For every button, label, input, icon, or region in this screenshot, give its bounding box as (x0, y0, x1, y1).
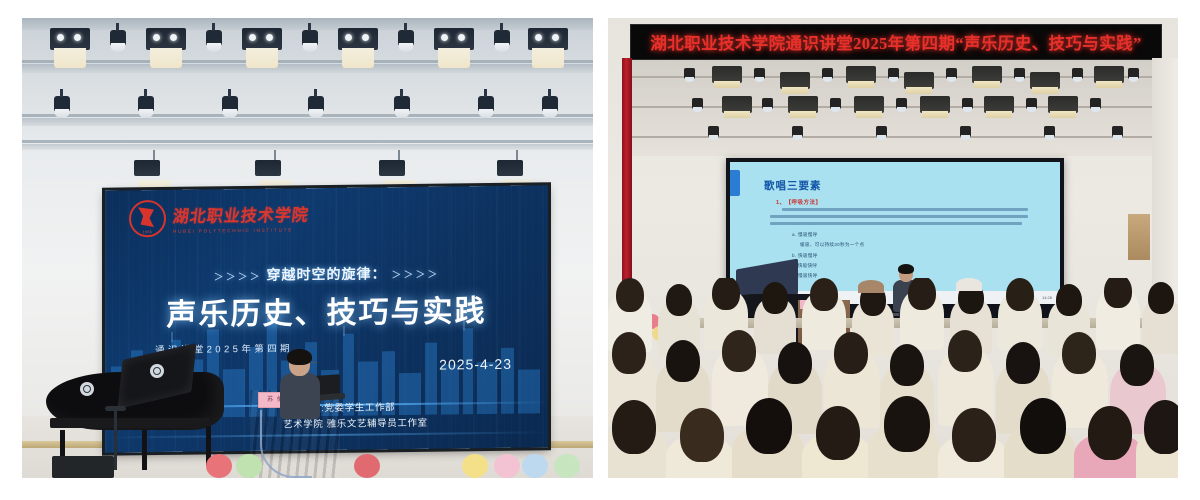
ceiling-band (22, 144, 593, 150)
moving-head-light-icon (379, 160, 405, 176)
student-head (666, 340, 700, 382)
piano-leg (142, 430, 147, 470)
rig-par-light-icon (876, 126, 887, 137)
stage-par-light-icon (494, 30, 510, 46)
rig-box-light-icon (1094, 66, 1124, 83)
student-head (666, 284, 692, 316)
rig-box-light-icon (722, 96, 752, 113)
rig-par-light-icon (1072, 68, 1083, 79)
piano-emblem-icon (150, 364, 164, 378)
student-head (890, 344, 924, 386)
floor-monitor-speaker (52, 456, 114, 478)
student-head (616, 278, 644, 312)
rig-box-light-icon (904, 72, 934, 89)
stage-par-light-icon (138, 96, 154, 112)
cap-icon (956, 278, 982, 291)
balloon (206, 454, 232, 478)
student-head (778, 342, 812, 384)
student-head (810, 278, 838, 311)
student-head (1062, 332, 1096, 374)
audience-crowd (608, 278, 1178, 478)
led-banner: 湖北职业技术学院通识讲堂2025年第四期“声乐历史、技巧与实践” (630, 24, 1162, 60)
slide-date: 2025-4-23 (439, 356, 512, 373)
piano-keybed (50, 418, 210, 428)
student-head (746, 398, 792, 454)
slide-title: 歌唱三要素 (764, 178, 822, 193)
balloon (494, 454, 520, 478)
slide-section-heading: 1、【呼吸方法】 (776, 198, 822, 206)
rig-box-light-icon (780, 72, 810, 89)
student-head (884, 396, 930, 452)
rig-box-light-icon (1030, 72, 1060, 89)
rig-par-light-icon (946, 68, 957, 79)
slide-title: 声乐历史、技巧与实践 (105, 285, 548, 334)
stage-par-light-icon (302, 30, 318, 46)
stage-box-light-icon (528, 28, 568, 50)
balloon (236, 454, 262, 478)
student-head (1006, 278, 1034, 311)
stage-par-light-icon (542, 96, 558, 112)
lighting-truss (22, 60, 593, 63)
rig-box-light-icon (1048, 96, 1078, 113)
presenter-hair (898, 264, 914, 274)
stage-par-light-icon (54, 96, 70, 112)
audience-hall-photo: 湖北职业技术学院通识讲堂2025年第四期“声乐历史、技巧与实践” (608, 18, 1178, 478)
slide-subtitle-text: 穿越时空的旋律： (267, 265, 387, 282)
student-head (680, 408, 724, 462)
led-banner-text: 湖北职业技术学院通识讲堂2025年第四期“声乐历史、技巧与实践” (650, 30, 1141, 54)
chevrons-left: ＞＞＞＞ (214, 272, 262, 284)
moving-head-light-icon (255, 160, 281, 176)
rig-par-light-icon (960, 126, 971, 137)
balloon (354, 454, 380, 478)
rig-box-light-icon (920, 96, 950, 113)
ceiling-lighting-rig (632, 60, 1160, 156)
lighting-truss (22, 140, 593, 143)
screenshot-canvas: 湖北职业技术学院 HUBEI POLYTECHNIC INSTITUTE ＞＞＞… (0, 0, 1200, 500)
chevrons-right: ＞＞＞＞ (391, 270, 439, 282)
stage-box-light-icon (50, 28, 90, 50)
rig-par-light-icon (1044, 126, 1055, 137)
presenter (280, 352, 320, 418)
presenter-hair (287, 349, 312, 365)
balloon (462, 454, 488, 478)
stage-box-light-icon (338, 28, 378, 50)
ceiling-band (22, 64, 593, 73)
student-head (722, 330, 756, 372)
university-seal-icon (129, 200, 166, 237)
rig-par-light-icon (754, 68, 765, 79)
slide-note: 缓吸、可以持续30秒为一个点 (800, 242, 864, 248)
university-name-en: HUBEI POLYTECHNIC INSTITUTE (173, 227, 309, 234)
rig-par-light-icon (1014, 68, 1025, 79)
wood-wall-panel (1128, 214, 1150, 260)
rig-par-light-icon (962, 98, 973, 109)
rig-par-light-icon (1026, 98, 1037, 109)
stage-par-light-icon (206, 30, 222, 46)
slide-side-tab (730, 170, 740, 196)
moving-head-light-icon (134, 160, 160, 176)
stage-box-light-icon (434, 28, 474, 50)
microphone-stand (114, 410, 117, 470)
rig-par-light-icon (1090, 98, 1101, 109)
stage-par-light-icon (394, 96, 410, 112)
rig-par-light-icon (830, 98, 841, 109)
rig-par-light-icon (896, 98, 907, 109)
presenter-torso (280, 373, 320, 419)
rig-par-light-icon (762, 98, 773, 109)
student-head (948, 330, 982, 372)
moving-head-light-icon (497, 160, 523, 176)
student-head (834, 332, 868, 374)
balloon (522, 454, 548, 478)
student-head (612, 400, 656, 454)
rig-box-light-icon (972, 66, 1002, 83)
rig-box-light-icon (788, 96, 818, 113)
stage-par-light-icon (110, 30, 126, 46)
stage-par-light-icon (308, 96, 324, 112)
stage-box-light-icon (242, 28, 282, 50)
student-head (1020, 398, 1066, 454)
rig-box-light-icon (854, 96, 884, 113)
grand-piano (46, 346, 236, 466)
university-name-cn: 湖北职业技术学院 (171, 201, 310, 228)
rig-box-light-icon (984, 96, 1014, 113)
student-head (1148, 282, 1174, 314)
rig-par-light-icon (792, 126, 803, 137)
student-head (612, 332, 646, 374)
rig-par-light-icon (708, 126, 719, 137)
rig-par-light-icon (684, 68, 695, 79)
stage-par-light-icon (222, 96, 238, 112)
student-head (952, 408, 996, 462)
stage-par-light-icon (478, 96, 494, 112)
stage-box-light-icon (146, 28, 186, 50)
student-head (712, 278, 740, 310)
slide-list-item: a. 慢吸慢呼 (792, 232, 818, 238)
student-head (908, 278, 936, 310)
balloon (554, 454, 580, 478)
rig-par-light-icon (1112, 126, 1123, 137)
student-head (1056, 284, 1082, 316)
student-head (816, 406, 860, 460)
cap-icon (858, 280, 884, 293)
rig-par-light-icon (822, 68, 833, 79)
rig-box-light-icon (846, 66, 876, 83)
rig-par-light-icon (692, 98, 703, 109)
ceiling-band (22, 118, 593, 126)
student-head (1144, 400, 1178, 454)
student-head (1120, 344, 1154, 386)
student-head (1088, 406, 1132, 460)
lighting-truss (22, 114, 593, 117)
student-head (1104, 278, 1132, 308)
student-head (762, 282, 788, 314)
piano-emblem-icon (80, 382, 94, 396)
lecture-stage-photo: 湖北职业技术学院 HUBEI POLYTECHNIC INSTITUTE ＞＞＞… (22, 18, 593, 478)
stage-par-light-icon (398, 30, 414, 46)
rig-par-light-icon (1128, 68, 1139, 79)
rig-par-light-icon (888, 68, 899, 79)
university-logo: 湖北职业技术学院 HUBEI POLYTECHNIC INSTITUTE (129, 198, 309, 237)
rig-box-light-icon (712, 66, 742, 83)
student-head (1006, 342, 1040, 384)
